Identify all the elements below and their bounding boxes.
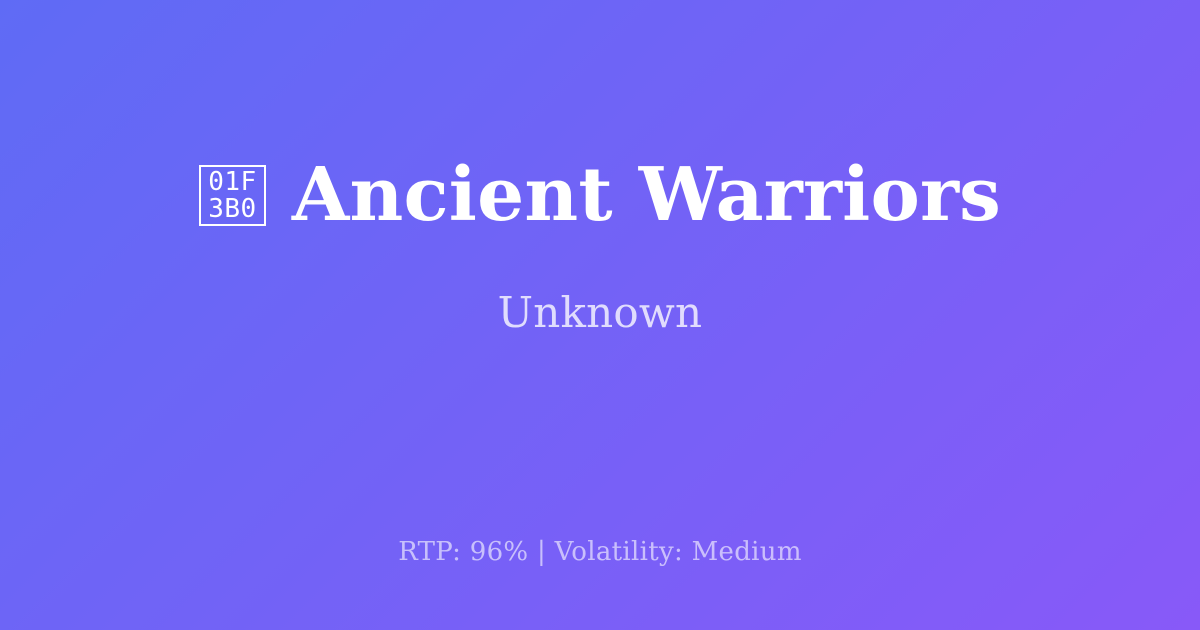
card-footer: RTP: 96% | Volatility: Medium <box>0 537 1200 568</box>
title-row: 01F 3B0 Ancient Warriors <box>40 156 1160 234</box>
game-stats-text: RTP: 96% | Volatility: Medium <box>398 537 802 568</box>
hero-block: 01F 3B0 Ancient Warriors Unknown <box>0 0 1200 492</box>
og-share-card: 01F 3B0 Ancient Warriors Unknown RTP: 96… <box>0 0 1200 630</box>
page-title: Ancient Warriors <box>292 156 1001 234</box>
tofu-codepoint-top: 01F <box>208 169 256 196</box>
slot-machine-icon: 01F 3B0 <box>199 165 266 226</box>
card-subtitle: Unknown <box>498 290 703 336</box>
tofu-codepoint-bottom: 3B0 <box>208 196 256 223</box>
